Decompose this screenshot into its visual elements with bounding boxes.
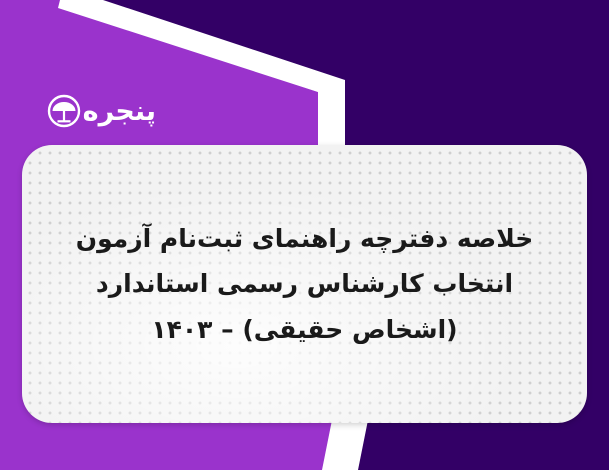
- title-card: خلاصه دفترچه راهنمای ثبت‌نام آزمون انتخا…: [22, 145, 587, 423]
- poster-canvas: پنجره خلاصه دفترچه راهنمای ثبت‌نام آزمون…: [0, 0, 609, 470]
- title-block: خلاصه دفترچه راهنمای ثبت‌نام آزمون انتخا…: [22, 145, 587, 423]
- title-line-2: انتخاب کارشناس رسمی استاندارد: [96, 268, 513, 299]
- logo-wordmark: پنجره: [83, 98, 156, 125]
- brand-logo: پنجره: [44, 84, 156, 138]
- dome-emblem-icon: [47, 94, 81, 128]
- title-line-1: خلاصه دفترچه راهنمای ثبت‌نام آزمون: [76, 223, 533, 254]
- title-line-3: (اشخاص حقیقی) – ۱۴۰۳: [151, 314, 457, 345]
